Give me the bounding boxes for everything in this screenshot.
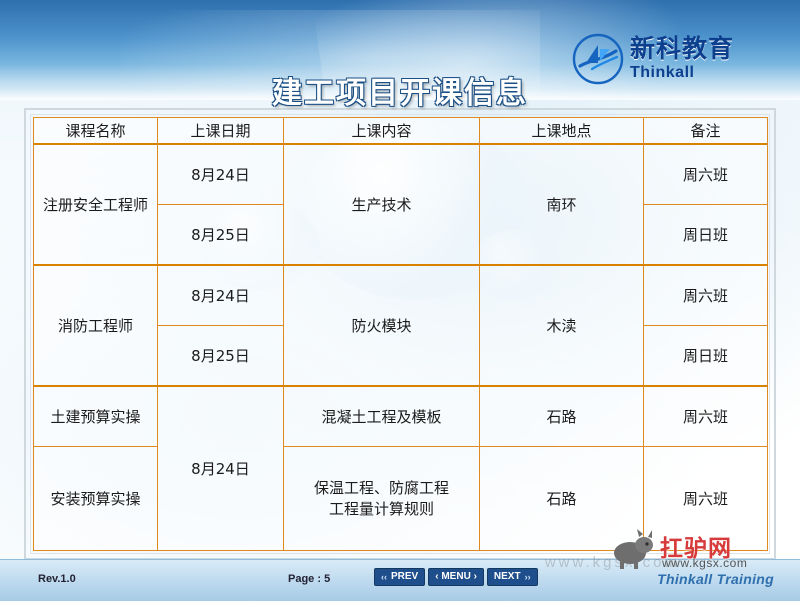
- table-row: 土建预算实操 8月24日 混凝土工程及模板 石路 周六班: [34, 386, 768, 447]
- site-watermark: 扛驴网 www.kgsx.com: [606, 525, 792, 577]
- chevron-left-icon: ‹‹: [381, 573, 387, 582]
- prev-button[interactable]: ‹‹ PREV: [374, 568, 425, 586]
- watermark-url: www.kgsx.com: [662, 556, 747, 570]
- cell-date-2a: 8月24日: [158, 265, 284, 326]
- brand-name-cn: 新科教育: [630, 37, 734, 62]
- cell-course-3: 土建预算实操: [34, 386, 158, 447]
- cell-content-4-line1: 保温工程、防腐工程: [288, 478, 475, 498]
- footer-page-number: Page : 5: [288, 573, 330, 585]
- cell-place-2: 木渎: [480, 265, 644, 386]
- table-header-content: 上课内容: [284, 118, 480, 145]
- slide-root: 新科教育 Thinkall 建工项目开课信息 课程名称 上课日期 上课内容 上课…: [0, 0, 800, 601]
- chevron-right-icon: ››: [525, 573, 531, 582]
- page-title: 建工项目开课信息: [0, 68, 800, 112]
- cell-date-2b: 8月25日: [158, 326, 284, 387]
- table-header-date: 上课日期: [158, 118, 284, 145]
- cell-date-1b: 8月25日: [158, 205, 284, 266]
- cell-date-1a: 8月24日: [158, 144, 284, 205]
- cell-note-3: 周六班: [644, 386, 768, 447]
- cell-content-4-line2: 工程量计算规则: [288, 499, 475, 519]
- cell-course-2: 消防工程师: [34, 265, 158, 386]
- cell-note-2a: 周六班: [644, 265, 768, 326]
- next-button-label: NEXT: [494, 572, 521, 582]
- prev-button-label: PREV: [391, 572, 418, 582]
- cell-note-1b: 周日班: [644, 205, 768, 266]
- cell-note-1a: 周六班: [644, 144, 768, 205]
- footer-revision: Rev.1.0: [38, 573, 76, 585]
- donkey-icon: [608, 527, 656, 571]
- cell-content-2: 防火模块: [284, 265, 480, 386]
- cell-content-4: 保温工程、防腐工程 工程量计算规则: [284, 447, 480, 551]
- cell-note-2b: 周日班: [644, 326, 768, 387]
- cell-content-1: 生产技术: [284, 144, 480, 265]
- cell-course-1: 注册安全工程师: [34, 144, 158, 265]
- footer-nav-buttons: ‹‹ PREV ‹ MENU › NEXT ››: [374, 568, 538, 586]
- table-row: 注册安全工程师 8月24日 生产技术 南环 周六班: [34, 144, 768, 205]
- cell-place-1: 南环: [480, 144, 644, 265]
- cell-date-3: 8月24日: [158, 386, 284, 550]
- table-header-note: 备注: [644, 118, 768, 145]
- cell-place-3: 石路: [480, 386, 644, 447]
- cell-content-3: 混凝土工程及模板: [284, 386, 480, 447]
- menu-button-label: ‹ MENU ›: [435, 572, 477, 582]
- table-header-row: 课程名称 上课日期 上课内容 上课地点 备注: [34, 118, 768, 145]
- table-header-place: 上课地点: [480, 118, 644, 145]
- table-row: 消防工程师 8月24日 防火模块 木渎 周六班: [34, 265, 768, 326]
- table-header-course: 课程名称: [34, 118, 158, 145]
- menu-button[interactable]: ‹ MENU ›: [428, 568, 484, 586]
- cell-course-4: 安装预算实操: [34, 447, 158, 551]
- schedule-table: 课程名称 上课日期 上课内容 上课地点 备注 注册安全工程师 8月24日 生产技…: [33, 117, 768, 551]
- next-button[interactable]: NEXT ››: [487, 568, 538, 586]
